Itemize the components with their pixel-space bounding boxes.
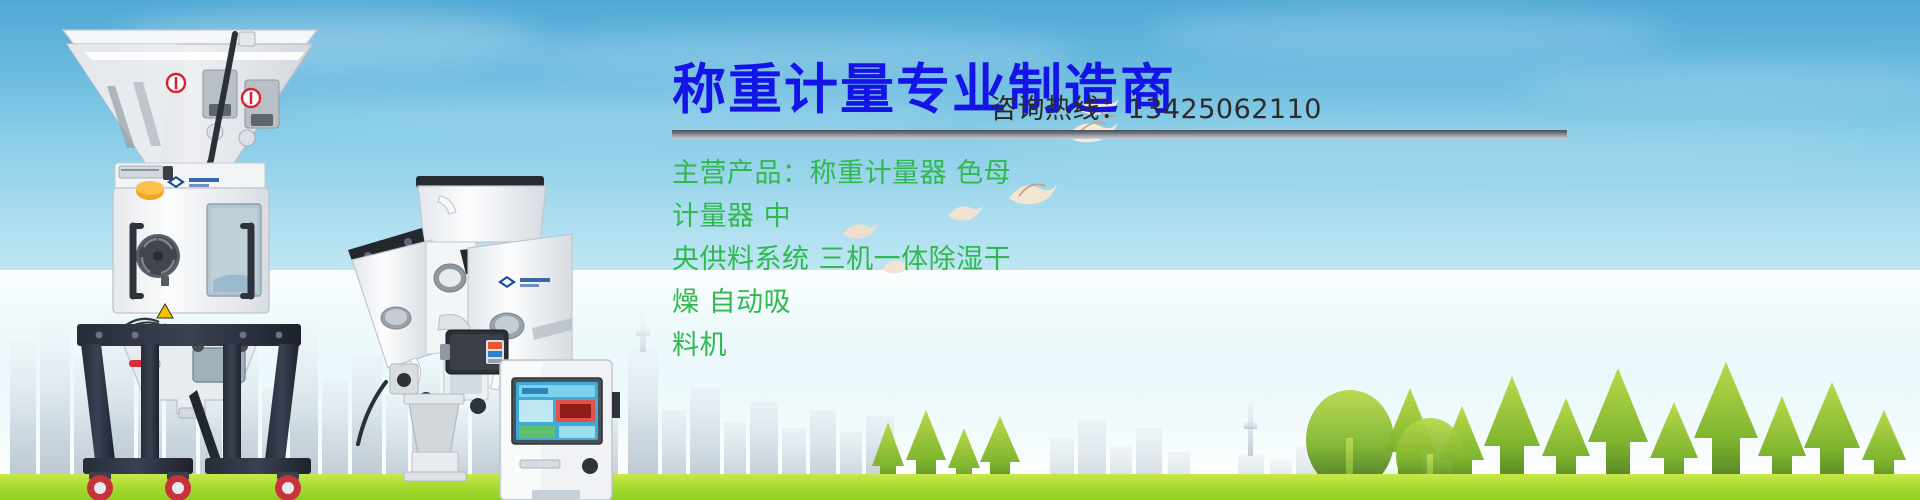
machine-hmi-control-box <box>440 300 620 500</box>
product-summary-line-2: 央供料系统 三机一体除湿干燥 自动吸 <box>672 238 1017 324</box>
promo-banner: 称重计量专业制造商 主营产品：称重计量器 色母计量器 中 央供料系统 三机一体除… <box>0 0 1920 500</box>
hotline-label: 咨询热线： <box>990 94 1128 125</box>
product-summary-line-3: 料机 <box>672 324 1017 367</box>
cloud-wisp <box>1150 6 1670 60</box>
product-summary: 主营产品：称重计量器 色母计量器 中 央供料系统 三机一体除湿干燥 自动吸 料机 <box>672 152 1017 367</box>
hotline-number[interactable]: 13425062110 <box>1128 94 1322 125</box>
product-summary-line-1: 主营产品：称重计量器 色母计量器 中 <box>672 152 1017 238</box>
title-divider <box>672 130 1567 139</box>
machine-gravimetric-blender <box>55 8 325 500</box>
hotline-block[interactable]: 咨询热线：13425062110 <box>990 88 1322 131</box>
